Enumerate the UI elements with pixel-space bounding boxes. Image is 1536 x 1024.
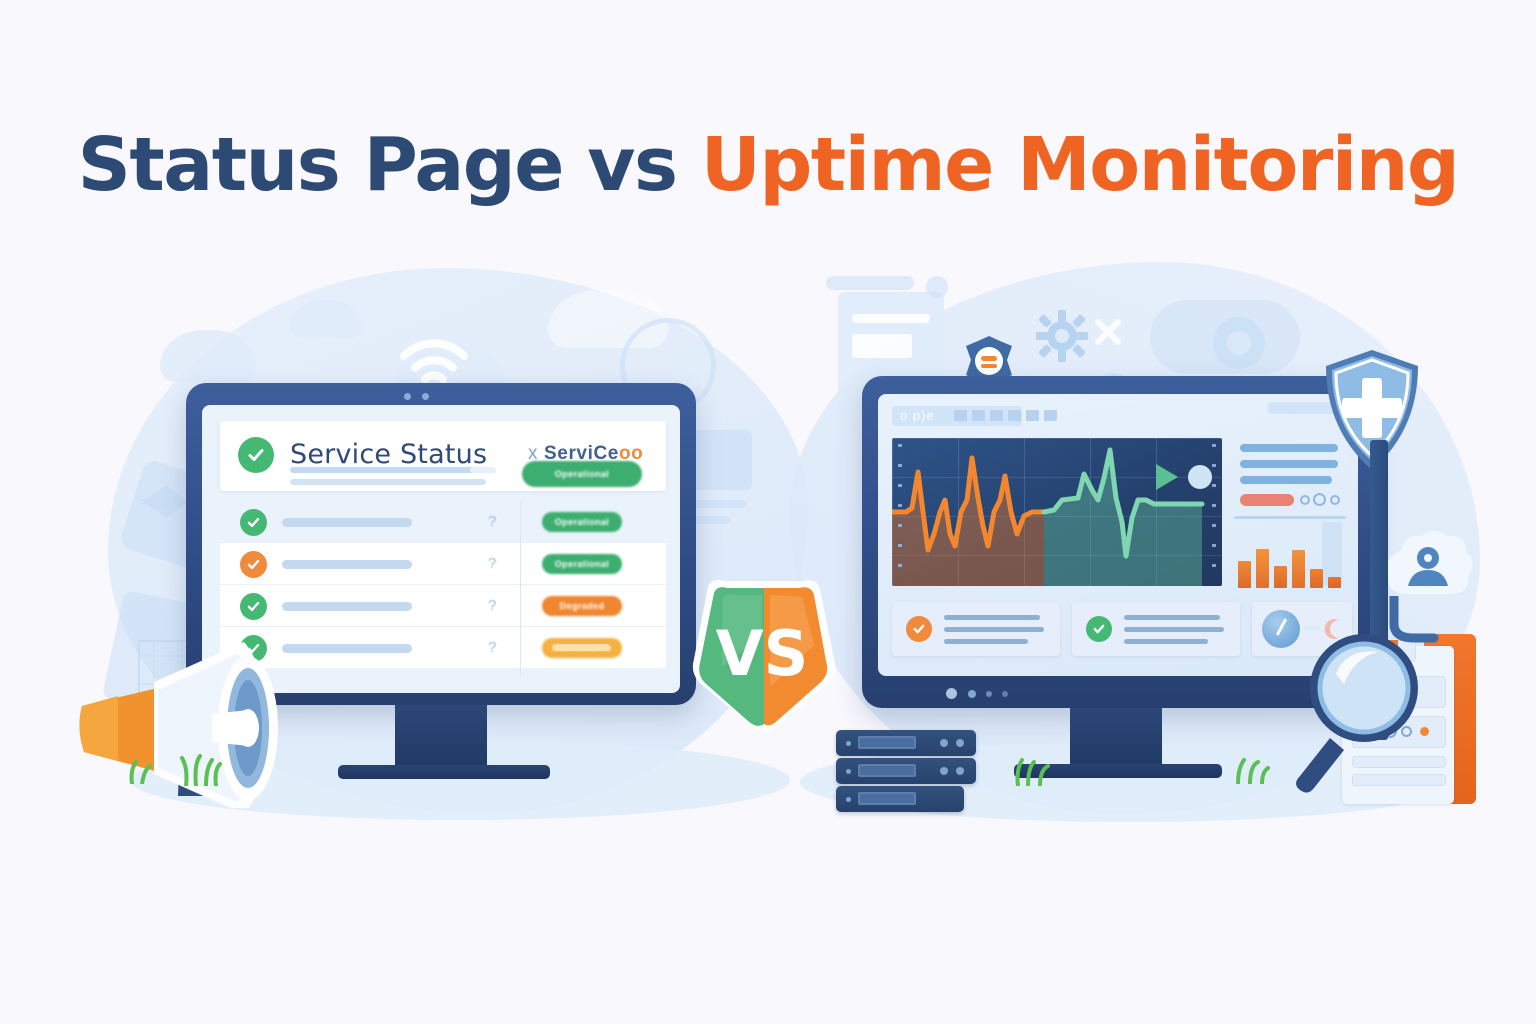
check-circle-orange-icon	[906, 616, 932, 642]
versus-shield[interactable]: VS	[678, 575, 848, 737]
decorative-shape	[826, 276, 914, 290]
mini-bar-chart	[1238, 544, 1342, 588]
grass-decor	[1012, 756, 1056, 786]
power-indicator	[946, 688, 957, 699]
chart-series-svg	[892, 438, 1222, 586]
server-slot	[858, 792, 916, 805]
placeholder-bar	[290, 467, 492, 473]
server-led	[956, 767, 964, 775]
check-circle-green-icon	[240, 593, 267, 620]
page-title: Status Page vs Uptime Monitoring	[0, 122, 1536, 208]
bar	[1328, 577, 1341, 588]
row-value: ?	[488, 513, 496, 530]
card-line	[944, 639, 1028, 644]
chart-y-ticks-right	[1212, 444, 1216, 580]
bar	[1274, 566, 1287, 588]
server-slot	[858, 764, 916, 777]
card-line	[944, 615, 1040, 620]
decorative-shape	[926, 276, 948, 298]
service-status-title: Service Status	[290, 439, 487, 470]
status-circle-icon	[1330, 495, 1340, 505]
badge-inner-bar	[554, 644, 610, 651]
grass-decor	[1232, 754, 1272, 784]
camera-dot	[422, 393, 429, 400]
server-led	[846, 769, 851, 774]
gear-icon	[1196, 300, 1282, 386]
server-slot	[858, 736, 916, 749]
server-unit	[836, 786, 964, 812]
bar	[1256, 549, 1269, 588]
gear-icon	[1036, 310, 1088, 362]
check-circle-orange-icon	[240, 551, 267, 578]
row-label-bar	[282, 560, 412, 569]
status-badge[interactable]: Operational	[542, 554, 622, 574]
card-line	[1124, 639, 1208, 644]
illustration-canvas: Status Page vs Uptime Monitoring	[0, 0, 1536, 1024]
url-blocks	[954, 410, 1057, 421]
column-divider	[520, 501, 521, 677]
monitor-stand-neck	[395, 705, 487, 767]
monitor-stand-neck	[1070, 708, 1162, 766]
server-led	[956, 739, 964, 747]
divider	[1234, 516, 1346, 519]
led-dot	[1002, 691, 1008, 697]
alert-pill	[1240, 494, 1294, 506]
server-led	[846, 797, 851, 802]
server-led	[940, 739, 948, 747]
side-text-bar	[1240, 476, 1332, 484]
server-unit	[836, 758, 976, 784]
placeholder-bar	[290, 479, 486, 485]
check-circle-green-icon	[240, 509, 267, 536]
row-label-bar	[282, 518, 412, 527]
status-badge[interactable]: Operational	[522, 461, 642, 487]
row-value: ?	[488, 597, 496, 614]
status-circle-icon	[1313, 493, 1326, 506]
card-line	[944, 627, 1044, 632]
cloud-icon	[290, 300, 362, 338]
bar	[1310, 569, 1323, 588]
camera-dot	[404, 393, 411, 400]
led-dot	[968, 690, 976, 698]
check-circle-green-icon	[1086, 616, 1112, 642]
chart-y-ticks	[898, 444, 902, 580]
server-led	[846, 741, 851, 746]
server-unit	[836, 730, 976, 756]
metric-card[interactable]	[1072, 602, 1240, 656]
star-icon	[140, 485, 192, 504]
status-circle-icon	[1300, 495, 1310, 505]
magnifying-glass-icon	[1286, 626, 1436, 794]
monitor-stand-base	[338, 765, 550, 779]
metric-card[interactable]	[892, 602, 1060, 656]
document-block-decor	[852, 334, 912, 358]
grass-decor	[126, 758, 154, 784]
title-orange-part: Uptime Monitoring	[701, 122, 1459, 208]
url-text: o p)e	[900, 408, 935, 423]
play-marker-icon[interactable]	[1156, 464, 1178, 490]
card-line	[1124, 615, 1220, 620]
vs-label: VS	[716, 617, 809, 690]
card-line	[1124, 627, 1224, 632]
bar	[1238, 561, 1251, 588]
row-value: ?	[488, 639, 496, 656]
uptime-chart	[892, 438, 1222, 586]
status-badge[interactable]: Operational	[542, 512, 622, 532]
document-line-decor	[852, 314, 930, 323]
check-circle-green-icon	[238, 437, 274, 473]
row-label-bar	[282, 602, 412, 611]
status-badge[interactable]: Degraded	[542, 596, 622, 616]
bar	[1292, 550, 1305, 588]
row-value: ?	[488, 555, 496, 572]
grass-decor	[178, 752, 224, 786]
server-led	[940, 767, 948, 775]
close-icon	[1094, 318, 1122, 346]
led-dot	[986, 691, 992, 697]
placeholder-bar	[470, 467, 496, 473]
title-navy-part: Status Page vs	[78, 122, 701, 208]
status-dot-icon	[1188, 465, 1212, 489]
